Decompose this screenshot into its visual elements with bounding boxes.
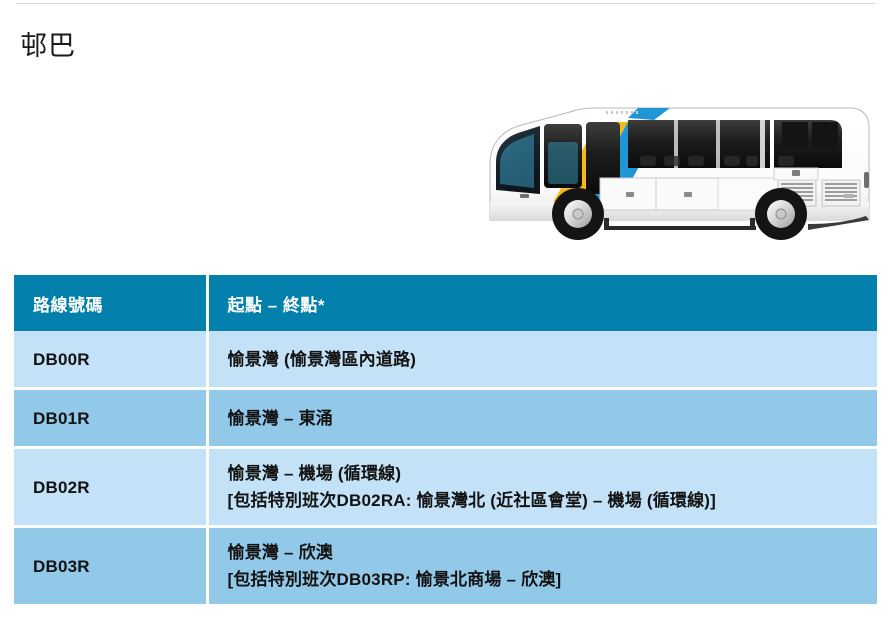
- cell-route-code: DB03R: [14, 527, 207, 606]
- cell-line-primary: 愉景灣 – 機場 (循環線): [228, 460, 870, 487]
- column-header-route-code: 路線號碼: [14, 275, 207, 331]
- cell-route-code: DB00R: [14, 331, 207, 389]
- cell-origin-destination: 愉景灣 – 機場 (循環線) [包括特別班次DB02RA: 愉景灣北 (近社區會…: [207, 448, 877, 527]
- cell-line-secondary: [包括特別班次DB02RA: 愉景灣北 (近社區會堂) – 機場 (循環線)]: [228, 487, 870, 514]
- table-row: DB02R 愉景灣 – 機場 (循環線) [包括特別班次DB02RA: 愉景灣北…: [14, 448, 877, 527]
- table-row: DB01R 愉景灣 – 東涌: [14, 389, 877, 448]
- cell-route-code: DB01R: [14, 389, 207, 448]
- page-title: 邨巴: [20, 30, 76, 62]
- cell-origin-destination: 愉景灣 – 欣澳 [包括特別班次DB03RP: 愉景北商場 – 欣澳]: [207, 527, 877, 606]
- cell-line-primary: 愉景灣 (愉景灣區內道路): [228, 346, 870, 373]
- bus-route-table: 路線號碼 起點 – 終點* DB00R 愉景灣 (愉景灣區內道路) DB01R …: [14, 275, 877, 607]
- cell-line-secondary: [包括特別班次DB03RP: 愉景北商場 – 欣澳]: [228, 566, 870, 593]
- cell-line-primary: 愉景灣 – 東涌: [228, 405, 870, 432]
- cell-origin-destination: 愉景灣 – 東涌: [207, 389, 877, 448]
- cell-route-code: DB02R: [14, 448, 207, 527]
- table-row: DB03R 愉景灣 – 欣澳 [包括特別班次DB03RP: 愉景北商場 – 欣澳…: [14, 527, 877, 606]
- top-divider: [16, 3, 875, 4]
- table-row: DB00R 愉景灣 (愉景灣區內道路): [14, 331, 877, 389]
- cell-origin-destination: 愉景灣 (愉景灣區內道路): [207, 331, 877, 389]
- cell-line-primary: 愉景灣 – 欣澳: [228, 539, 870, 566]
- table-header-row: 路線號碼 起點 – 終點*: [14, 275, 877, 331]
- coach-bus-image: [478, 98, 878, 250]
- column-header-origin-destination: 起點 – 終點*: [207, 275, 877, 331]
